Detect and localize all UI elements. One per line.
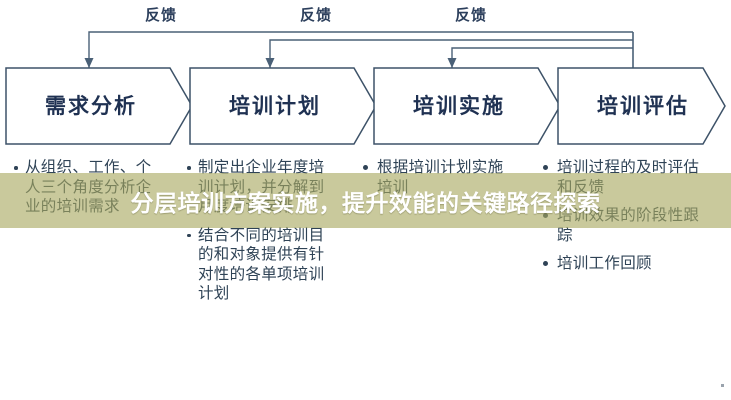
feedback-label-3: 反馈 [455,4,487,25]
flow-diagram-svg [0,0,731,160]
stage-label-requirement-analysis: 需求分析 [26,96,156,117]
stage-label-training-evaluation: 培训评估 [578,96,708,117]
feedback-label-1: 反馈 [145,4,177,25]
title-banner-overlay: 分层培训方案实施，提升效能的关键路径探索 [0,173,731,228]
stage-label-training-plan: 培训计划 [210,96,340,117]
list-item: 培训工作回顾 [540,254,710,274]
image-artifact-speck [721,384,724,387]
feedback-arrowheads [85,58,457,68]
page-title: 分层培训方案实施，提升效能的关键路径探索 [131,184,601,218]
stage-label-training-implementation: 培训实施 [394,96,524,117]
feedback-label-2: 反馈 [300,4,332,25]
training-process-flow-diagram: 反馈 反馈 反馈 需求分析 培训计划 培训实施 培训评估 [0,0,731,160]
list-item: 结合不同的培训目的和对象提供有针对性的各单项培训计划 [185,226,340,304]
slide-canvas: 反馈 反馈 反馈 需求分析 培训计划 培训实施 培训评估 从组织、工作、个人三个… [0,0,731,400]
